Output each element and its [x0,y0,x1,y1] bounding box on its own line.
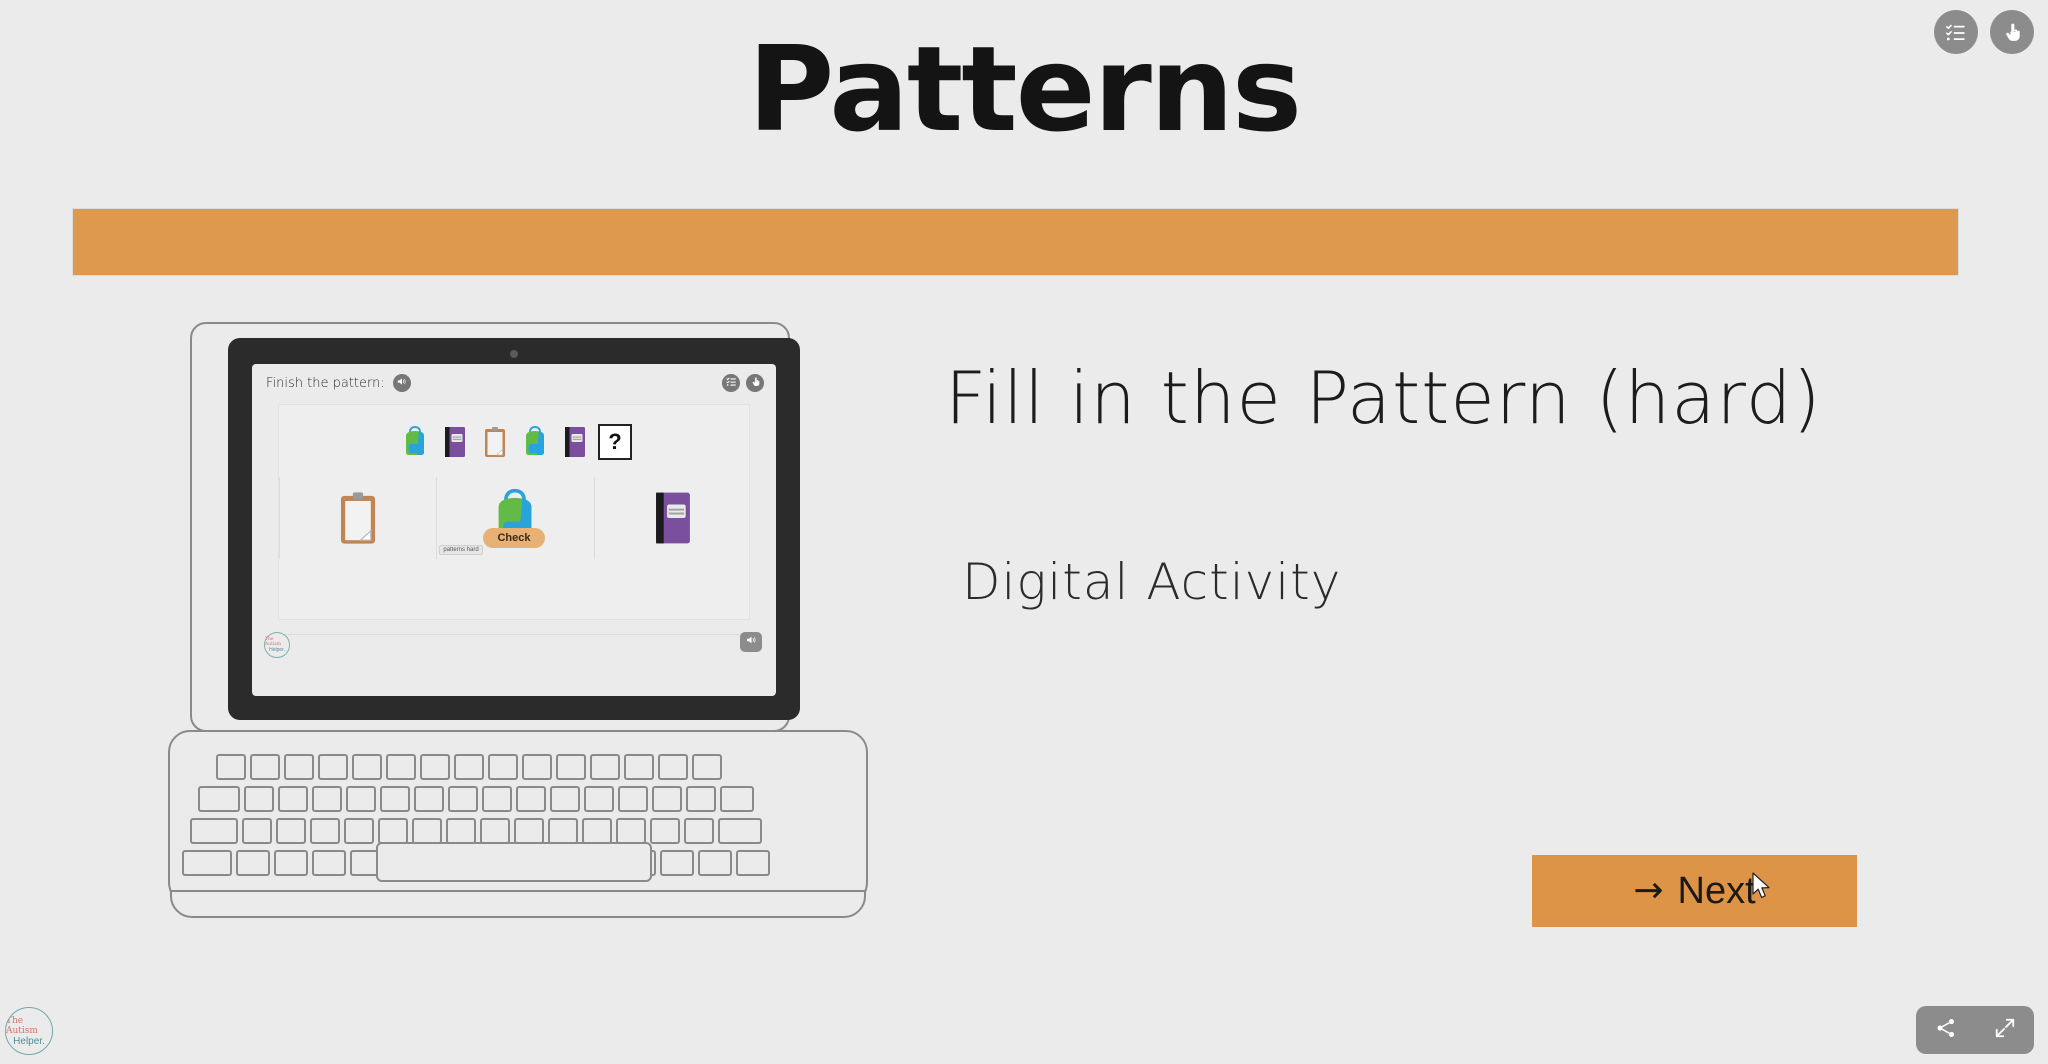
brand-logo: The Autism Helper. [5,1007,53,1055]
speaker-icon [745,633,757,651]
activity-divider [278,634,750,635]
share-icon [1935,1026,1957,1043]
activity-checklist-button[interactable] [722,374,740,392]
fullscreen-button[interactable] [1994,1017,2016,1044]
pattern-item-notebook [438,420,472,464]
activity-prompt: Finish the pattern: [266,376,385,391]
laptop-lid: Finish the pattern: [190,322,790,732]
slide-canvas: Patterns Fill in the Pattern (hard) Digi… [0,0,2048,1064]
pattern-sequence: ? [279,411,751,473]
arrow-right-icon: → [1633,873,1663,909]
page-title: Patterns [0,14,2048,164]
bottom-toolbar [1916,1006,2034,1054]
choice-tooltip: patterns hard [439,545,482,555]
pattern-answer-slot[interactable]: ? [598,420,632,464]
pattern-item-backpack [518,420,552,464]
pattern-item-clipboard [478,420,512,464]
checklist-icon [726,374,737,392]
webcam-icon [510,350,518,358]
laptop-trackpad [376,842,652,882]
keyboard-row-1 [168,754,868,780]
question-mark-box: ? [598,424,632,460]
activity-speaker-button[interactable] [740,632,762,652]
check-button[interactable]: Check [483,528,545,548]
activity-subtitle: Fill in the Pattern (hard) [945,355,1822,441]
laptop-bezel: Finish the pattern: [228,338,800,720]
activity-brand-logo: The Autism Helper. [264,632,290,658]
activity-hand-button[interactable] [746,374,764,392]
brand-line-2: Helper. [269,647,285,653]
brand-line-1: The Autism [265,637,289,647]
choice-clipboard[interactable] [279,477,437,559]
speaker-icon [396,374,407,392]
activity-toolbar [722,374,764,392]
activity-card: ? [278,404,750,620]
activity-type-label: Digital Activity [962,552,1341,612]
fullscreen-icon [1994,1026,2016,1043]
laptop-front-lip [170,890,866,918]
laptop-screen: Finish the pattern: [252,364,776,696]
pattern-item-notebook [558,420,592,464]
laptop-device-mockup: Finish the pattern: [168,322,868,962]
keyboard-row-2 [168,786,868,812]
brand-line-2: Helper. [13,1036,45,1047]
next-button[interactable]: → Next [1532,855,1857,927]
hand-tap-icon [750,374,761,392]
keyboard-row-3 [168,818,868,844]
laptop-base [168,730,868,922]
accent-banner [72,208,1959,276]
brand-line-1: The Autism [6,1016,52,1036]
pattern-item-backpack [398,420,432,464]
activity-prompt-row: Finish the pattern: [266,374,411,392]
next-button-label: Next [1678,870,1756,913]
choice-notebook[interactable] [595,477,751,559]
prompt-speaker-button[interactable] [393,374,411,392]
share-button[interactable] [1935,1017,1957,1044]
